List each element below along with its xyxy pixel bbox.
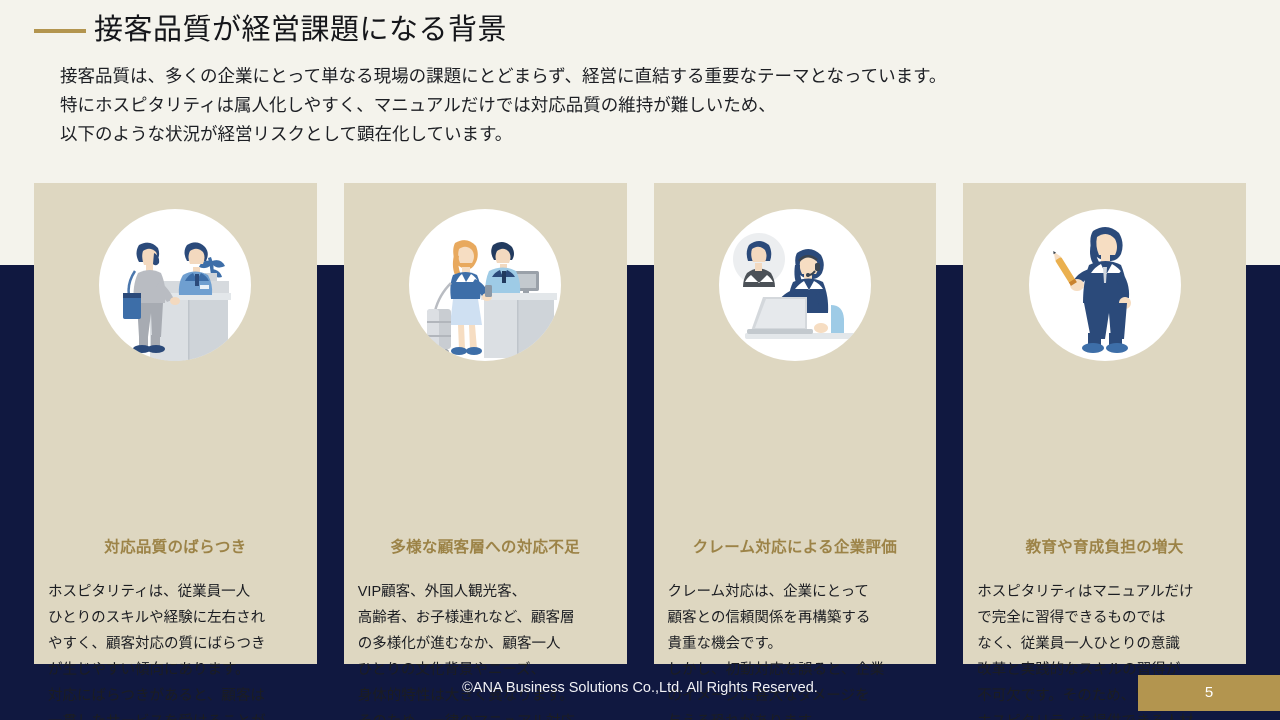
card-body: ホスピタリティは、従業員一人 ひとりのスキルや経験に左右され やすく、顧客対応の…	[48, 579, 306, 720]
card-item: 対応品質のばらつき ホスピタリティは、従業員一人 ひとりのスキルや経験に左右され…	[34, 183, 317, 664]
card-title: 多様な顧客層への対応不足	[344, 535, 627, 557]
traveler-checkin-icon	[409, 209, 561, 361]
copyright-text: ©ANA Business Solutions Co.,Ltd. All Rig…	[0, 680, 1280, 696]
card-grid: 対応品質のばらつき ホスピタリティは、従業員一人 ひとりのスキルや経験に左右され…	[34, 183, 1246, 664]
card-title: クレーム対応による企業評価	[654, 535, 937, 557]
call-center-agent-icon	[719, 209, 871, 361]
trainer-pointing-icon	[1029, 209, 1181, 361]
card-title: 対応品質のばらつき	[34, 535, 317, 557]
card-item: 教育や育成負担の増大 ホスピタリティはマニュアルだけ で完全に習得できるものでは…	[963, 183, 1246, 664]
card-item: 多様な顧客層への対応不足 VIP顧客、外国人観光客、 高齢者、お子様連れなど、顧…	[344, 183, 627, 664]
title-accent-rule	[34, 29, 86, 33]
lead-paragraph: 接客品質は、多くの企業にとって単なる現場の課題にとどまらず、経営に直結する重要な…	[60, 62, 946, 149]
card-title: 教育や育成負担の増大	[963, 535, 1246, 557]
card-body: クレーム対応は、企業にとって 顧客との信頼関係を再構築する 貴重な機会です。 し…	[668, 579, 926, 720]
card-body: VIP顧客、外国人観光客、 高齢者、お子様連れなど、顧客層 の多様化が進むなか、…	[358, 579, 616, 720]
page-number: 5	[1138, 675, 1280, 711]
card-item: クレーム対応による企業評価 クレーム対応は、企業にとって 顧客との信頼関係を再構…	[654, 183, 937, 664]
slide-root: 接客品質が経営課題になる背景 接客品質は、多くの企業にとって単なる現場の課題にと…	[0, 0, 1280, 720]
reception-counter-icon	[99, 209, 251, 361]
page-title: 接客品質が経営課題になる背景	[94, 8, 507, 52]
